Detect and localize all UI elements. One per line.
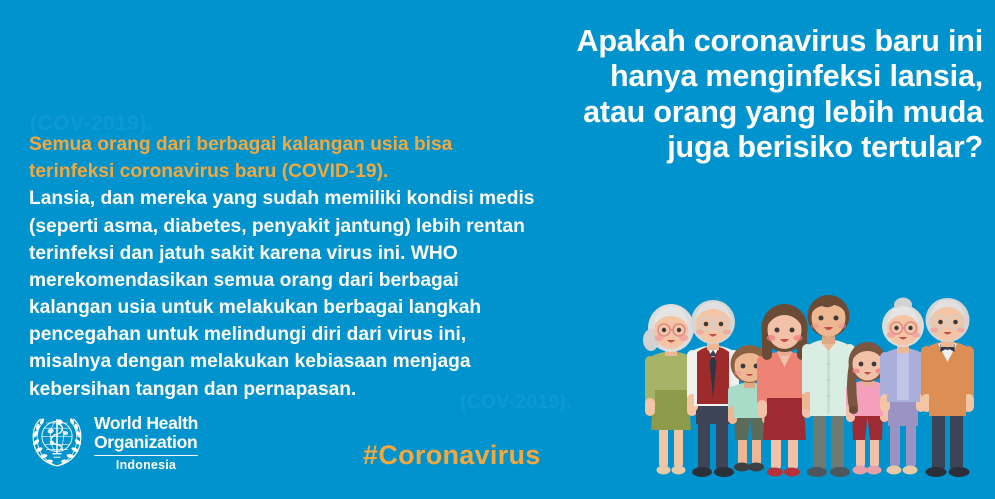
body-copy: Semua orang dari berbagai kalangan usia … xyxy=(29,131,629,403)
body-detail-line-4: merekomendasikan semua orang dari berbag… xyxy=(29,267,629,294)
headline-line-3: atau orang yang lebih muda xyxy=(423,95,983,130)
body-detail: Lansia, dan mereka yang sudah memiliki k… xyxy=(29,185,629,402)
who-wordmark-divider xyxy=(94,455,198,457)
poster-canvas: (COV-2019). (COV-2019). (COV-2019). Apak… xyxy=(0,0,995,499)
who-wordmark-line-1: World Health xyxy=(94,414,198,433)
body-detail-line-6: pencegahan untuk melindungi diri dari vi… xyxy=(29,321,629,348)
body-lead: Semua orang dari berbagai kalangan usia … xyxy=(29,131,629,185)
who-emblem-icon xyxy=(28,412,86,470)
body-lead-line-2: terinfeksi coronavirus baru (COVID-19). xyxy=(29,158,629,185)
body-detail-line-5: kalangan usia untuk melakukan berbagai l… xyxy=(29,294,629,321)
who-wordmark-line-2: Organization xyxy=(94,433,198,452)
who-country-label: Indonesia xyxy=(94,458,198,472)
family-group-illustration xyxy=(635,294,995,499)
body-detail-line-7: misalnya dengan melakukan kebiasaan menj… xyxy=(29,348,629,375)
body-lead-line-1: Semua orang dari berbagai kalangan usia … xyxy=(29,131,629,158)
who-logo-lockup: World Health Organization Indonesia xyxy=(28,411,198,472)
headline-line-1: Apakah coronavirus baru ini xyxy=(423,24,983,59)
body-detail-line-2: (seperti asma, diabetes, penyakit jantun… xyxy=(29,213,629,240)
body-detail-line-3: terinfeksi dan jatuh sakit karena virus … xyxy=(29,240,629,267)
body-detail-line-8: kebersihan tangan dan pernapasan. xyxy=(29,376,629,403)
who-wordmark: World Health Organization Indonesia xyxy=(94,411,198,472)
body-detail-line-1: Lansia, dan mereka yang sudah memiliki k… xyxy=(29,185,629,212)
headline-line-2: hanya menginfeksi lansia, xyxy=(423,59,983,94)
hashtag-coronavirus: #Coronavirus xyxy=(363,440,541,471)
